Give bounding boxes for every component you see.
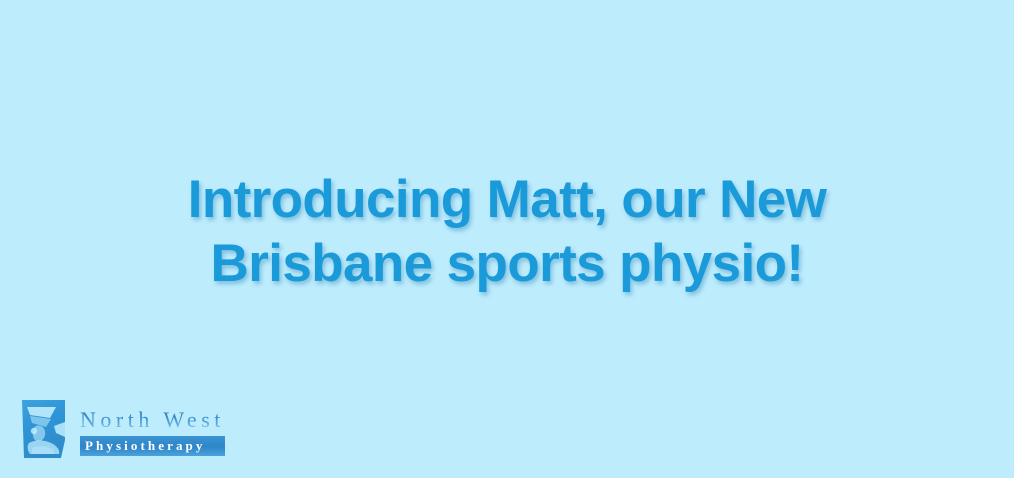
page-title-line-2: Brisbane sports physio! <box>0 232 1014 296</box>
promo-banner: Introducing Matt, our New Brisbane sport… <box>0 0 1014 478</box>
logo-wordmark: North West Physiotherapy <box>80 403 225 456</box>
logo-tagline: Physiotherapy <box>85 438 221 453</box>
physiotherapy-figure-mark-icon <box>20 396 70 462</box>
page-title: Introducing Matt, our New Brisbane sport… <box>0 168 1014 296</box>
logo-tagline-bar: Physiotherapy <box>80 436 225 456</box>
page-title-line-1: Introducing Matt, our New <box>0 168 1014 232</box>
brand-logo[interactable]: North West Physiotherapy <box>20 394 220 464</box>
logo-brand-name: North West <box>80 407 225 433</box>
